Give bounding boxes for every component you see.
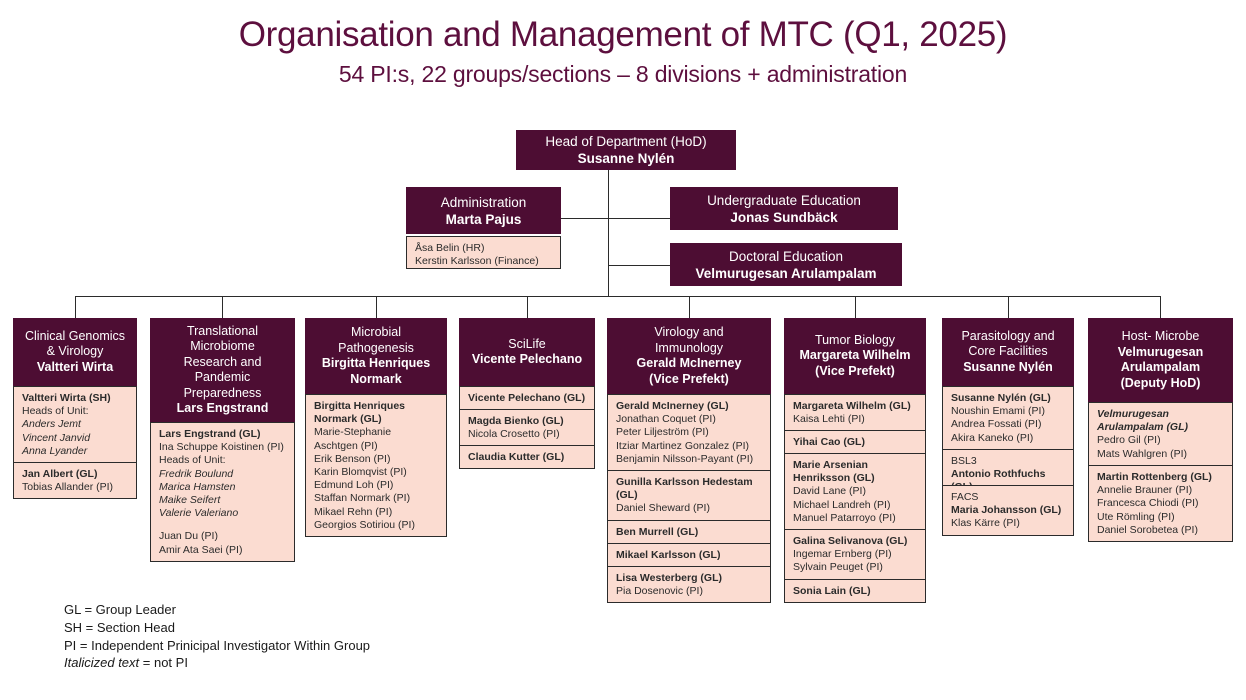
division-group-box[interactable]: Ben Murrell (GL) (607, 520, 771, 544)
box-doctoral-education[interactable]: Doctoral Education Velmurugesan Arulampa… (670, 243, 902, 286)
group-member-line: Ina Schuppe Koistinen (PI) (159, 441, 287, 454)
group-member-line: Peter Liljeström (PI) (616, 426, 763, 439)
group-member-line: Fredrik Boulund (159, 468, 287, 481)
group-member-line: Manuel Patarroyo (PI) (793, 512, 918, 525)
group-member-line: Martin Rottenberg (GL) (1097, 471, 1225, 484)
group-member-line: Ute Römling (PI) (1097, 511, 1225, 524)
group-member-line: Jan Albert (GL) (22, 468, 129, 481)
group-member-line: Daniel Sorobetea (PI) (1097, 524, 1225, 537)
group-member-line: Georgios Sotiriou (PI) (314, 519, 439, 532)
box-head-of-department[interactable]: Head of Department (HoD) Susanne Nylén (516, 130, 736, 170)
division-title-line: SciLife (508, 337, 546, 353)
division-header-microbial-pathogenesis[interactable]: MicrobialPathogenesisBirgitta Henriques … (305, 318, 447, 394)
division-group-box[interactable]: VelmurugesanArulampalam (GL)Pedro Gil (P… (1088, 402, 1233, 466)
group-member-line: Lisa Westerberg (GL) (616, 572, 763, 585)
group-member-line: Sylvain Peuget (PI) (793, 561, 918, 574)
drop-division-2 (222, 296, 223, 318)
division-group-box[interactable]: Mikael Karlsson (GL) (607, 543, 771, 567)
box-administration[interactable]: Administration Marta Pajus (406, 187, 561, 234)
group-line-spacer (159, 520, 287, 530)
division-title-line: Translational (187, 324, 258, 340)
drop-division-3 (376, 296, 377, 318)
group-member-line: Mikael Rehn (PI) (314, 506, 439, 519)
group-member-line: Benjamin Nilsson-Payant (PI) (616, 453, 763, 466)
group-member-line: Kaisa Lehti (PI) (793, 413, 918, 426)
group-member-line: Maike Seifert (159, 494, 287, 507)
group-member-line: Klas Kärre (PI) (951, 517, 1066, 530)
division-title-line: Preparedness (184, 386, 262, 402)
group-member-line: Susanne Nylén (GL) (951, 392, 1066, 405)
division-title-line: Clinical Genomics (25, 329, 125, 345)
legend-italic-rest: = not PI (139, 655, 188, 670)
division-leader-name: Gerald McInerney (637, 356, 742, 372)
connector-hod-trunk (608, 170, 609, 296)
group-member-line: Edmund Loh (PI) (314, 479, 439, 492)
group-member-line: Jonathan Coquet (PI) (616, 413, 763, 426)
administration-staff-0: Åsa Belin (HR) (415, 242, 553, 255)
group-member-line: Birgitta Henriques (314, 400, 439, 413)
group-member-line: Henriksson (GL) (793, 472, 918, 485)
division-leader-name: Lars Engstrand (177, 401, 269, 417)
group-member-line: Heads of Unit: (159, 454, 287, 467)
group-member-line: Marie-Stephanie (314, 426, 439, 439)
group-member-line: Galina Selivanova (GL) (793, 535, 918, 548)
division-leader-name: Susanne Nylén (963, 360, 1053, 376)
group-member-line: Erik Benson (PI) (314, 453, 439, 466)
group-member-line: Claudia Kutter (GL) (468, 451, 587, 464)
doctoral-role: Doctoral Education (729, 248, 843, 265)
division-group-box[interactable]: Vicente Pelechano (GL) (459, 386, 595, 410)
legend-italic-sample: Italicized text (64, 655, 139, 670)
division-group-box[interactable]: FACSMaria Johansson (GL)Klas Kärre (PI) (942, 485, 1074, 536)
group-member-line: Mikael Karlsson (GL) (616, 549, 763, 562)
division-title-line: Host- Microbe (1122, 329, 1200, 345)
division-leader-role: (Deputy HoD) (1121, 376, 1201, 392)
division-group-box[interactable]: Margareta Wilhelm (GL)Kaisa Lehti (PI) (784, 394, 926, 431)
group-member-line: Vincent Janvid (22, 432, 129, 445)
group-member-line: FACS (951, 491, 1066, 504)
group-member-line: Anna Lyander (22, 445, 129, 458)
division-title-line: Pathogenesis (338, 341, 414, 357)
division-leader-name: Vicente Pelechano (472, 352, 582, 368)
legend-line-0: GL = Group Leader (64, 601, 370, 619)
division-group-box[interactable]: Lars Engstrand (GL)Ina Schuppe Koistinen… (150, 422, 295, 562)
group-member-line: Yihai Cao (GL) (793, 436, 918, 449)
division-group-box[interactable]: Sonia Lain (GL) (784, 579, 926, 603)
group-member-line: Gerald McInerney (GL) (616, 400, 763, 413)
group-member-line: Tobias Allander (PI) (22, 481, 129, 494)
group-member-line: Ingemar Ernberg (PI) (793, 548, 918, 561)
division-header-virology-immunology[interactable]: Virology andImmunologyGerald McInerney(V… (607, 318, 771, 394)
division-header-tumor-biology[interactable]: Tumor BiologyMargareta Wilhelm(Vice Pref… (784, 318, 926, 394)
administration-name: Marta Pajus (446, 211, 522, 228)
group-member-line: Annelie Brauner (PI) (1097, 484, 1225, 497)
doctoral-name: Velmurugesan Arulampalam (695, 265, 876, 282)
group-member-line: Itziar Martinez Gonzalez (PI) (616, 440, 763, 453)
division-group-box[interactable]: Valtteri Wirta (SH)Heads of Unit:Anders … (13, 386, 137, 463)
group-member-line: Margareta Wilhelm (GL) (793, 400, 918, 413)
administration-role: Administration (441, 194, 527, 211)
division-title-line: Microbiome (190, 339, 255, 355)
division-group-box[interactable]: Birgitta HenriquesNormark (GL)Marie-Step… (305, 394, 447, 537)
group-member-line: Andrea Fossati (PI) (951, 418, 1066, 431)
legend-line-2: PI = Independent Prinicipal Investigator… (64, 637, 370, 655)
drop-division-7 (1008, 296, 1009, 318)
group-member-line: Heads of Unit: (22, 405, 129, 418)
group-member-line: Karin Blomqvist (PI) (314, 466, 439, 479)
group-member-line: Pia Dosenovic (PI) (616, 585, 763, 598)
group-member-line: David Lane (PI) (793, 485, 918, 498)
legend-line-1: SH = Section Head (64, 619, 370, 637)
division-group-box[interactable]: Lisa Westerberg (GL)Pia Dosenovic (PI) (607, 566, 771, 603)
division-bus (75, 296, 1161, 297)
group-member-line: Lars Engstrand (GL) (159, 428, 287, 441)
administration-staff-1: Kerstin Karlsson (Finance) (415, 255, 553, 268)
group-member-line: Francesca Chiodi (PI) (1097, 497, 1225, 510)
box-administration-staff[interactable]: Åsa Belin (HR) Kerstin Karlsson (Finance… (406, 236, 561, 269)
group-member-line: Juan Du (PI) (159, 530, 287, 543)
group-member-line: Marie Arsenian (793, 459, 918, 472)
division-leader-name: Valtteri Wirta (37, 360, 113, 376)
division-title-line: Tumor Biology (815, 333, 895, 349)
division-title-line: & Virology (47, 344, 104, 360)
division-title-line: Microbial (351, 325, 401, 341)
drop-division-6 (855, 296, 856, 318)
group-member-line: BSL3 (951, 455, 1066, 468)
page-title: Organisation and Management of MTC (Q1, … (0, 14, 1246, 55)
legend-line-3: Italicized text = not PI (64, 654, 370, 672)
group-member-line: Marica Hamsten (159, 481, 287, 494)
division-group-box[interactable]: Jan Albert (GL)Tobias Allander (PI) (13, 462, 137, 499)
division-header-translational-microbiome[interactable]: TranslationalMicrobiomeResearch andPande… (150, 318, 295, 422)
group-member-line: Pedro Gil (PI) (1097, 434, 1225, 447)
division-group-box[interactable]: Galina Selivanova (GL)Ingemar Ernberg (P… (784, 529, 926, 580)
group-member-line: (GL) (616, 489, 763, 502)
division-leader-role: (Vice Prefekt) (649, 372, 729, 388)
division-header-parasitology-core-facilities[interactable]: Parasitology andCore FacilitiesSusanne N… (942, 318, 1074, 386)
group-member-line: Noushin Emami (PI) (951, 405, 1066, 418)
page-subtitle: 54 PI:s, 22 groups/sections – 8 division… (0, 60, 1246, 88)
group-member-line: Velmurugesan (1097, 408, 1225, 421)
division-group-box[interactable]: Yihai Cao (GL) (784, 430, 926, 454)
group-member-line: Sonia Lain (GL) (793, 585, 918, 598)
group-member-line: Magda Bienko (GL) (468, 415, 587, 428)
undergraduate-role: Undergraduate Education (707, 192, 861, 209)
connector-admin-undergrad-bus (561, 218, 671, 219)
division-group-box[interactable]: Magda Bienko (GL)Nicola Crosetto (PI) (459, 409, 595, 446)
org-chart-canvas: Organisation and Management of MTC (Q1, … (0, 0, 1246, 700)
connector-doctoral-bus (608, 265, 671, 266)
group-member-line: Normark (GL) (314, 413, 439, 426)
division-leader-role: (Vice Prefekt) (815, 364, 895, 380)
division-group-box[interactable]: Gunilla Karlsson Hedestam(GL)Daniel Shew… (607, 470, 771, 521)
group-member-line: Michael Landreh (PI) (793, 499, 918, 512)
group-member-line: Valerie Valeriano (159, 507, 287, 520)
division-header-scilife[interactable]: SciLifeVicente Pelechano (459, 318, 595, 386)
undergraduate-name: Jonas Sundbäck (730, 209, 837, 226)
title-block: Organisation and Management of MTC (Q1, … (0, 14, 1246, 88)
group-member-line: Valtteri Wirta (SH) (22, 392, 129, 405)
division-title-line: Immunology (655, 341, 723, 357)
group-member-line: Gunilla Karlsson Hedestam (616, 476, 763, 489)
group-member-line: Staffan Normark (PI) (314, 492, 439, 505)
division-group-box[interactable]: Martin Rottenberg (GL)Annelie Brauner (P… (1088, 465, 1233, 542)
group-member-line: Nicola Crosetto (PI) (468, 428, 587, 441)
division-group-box[interactable]: Gerald McInerney (GL)Jonathan Coquet (PI… (607, 394, 771, 471)
division-title-line: Virology and (654, 325, 723, 341)
hod-role: Head of Department (HoD) (545, 133, 706, 150)
group-member-line: Anders Jemt (22, 418, 129, 431)
legend: GL = Group Leader SH = Section Head PI =… (64, 601, 370, 672)
group-member-line: Amir Ata Saei (PI) (159, 544, 287, 557)
division-title-line: Pandemic (195, 370, 251, 386)
group-member-line: Aschtgen (PI) (314, 440, 439, 453)
division-header-clinical-genomics-virology[interactable]: Clinical Genomics& VirologyValtteri Wirt… (13, 318, 137, 386)
group-member-line: Arulampalam (GL) (1097, 421, 1225, 434)
group-member-line: Ben Murrell (GL) (616, 526, 763, 539)
division-leader-name: Birgitta Henriques Normark (310, 356, 442, 387)
drop-division-5 (689, 296, 690, 318)
division-group-box[interactable]: Susanne Nylén (GL)Noushin Emami (PI)Andr… (942, 386, 1074, 450)
division-group-box[interactable]: BSL3Antonio Rothfuchs (GL) (942, 449, 1074, 486)
hod-name: Susanne Nylén (578, 150, 675, 167)
division-leader-name: Velmurugesan Arulampalam (1093, 345, 1228, 376)
drop-division-8 (1160, 296, 1161, 318)
group-member-line: Maria Johansson (GL) (951, 504, 1066, 517)
group-member-line: Daniel Sheward (PI) (616, 502, 763, 515)
box-undergraduate-education[interactable]: Undergraduate Education Jonas Sundbäck (670, 187, 898, 230)
division-title-line: Parasitology and (961, 329, 1054, 345)
drop-division-1 (75, 296, 76, 318)
division-header-host-microbe[interactable]: Host- MicrobeVelmurugesan Arulampalam(De… (1088, 318, 1233, 402)
division-title-line: Core Facilities (968, 344, 1047, 360)
group-member-line: Vicente Pelechano (GL) (468, 392, 587, 405)
division-title-line: Research and (184, 355, 262, 371)
division-leader-name: Margareta Wilhelm (799, 348, 910, 364)
division-group-box[interactable]: Marie ArsenianHenriksson (GL)David Lane … (784, 453, 926, 530)
group-member-line: Mats Wahlgren (PI) (1097, 448, 1225, 461)
division-group-box[interactable]: Claudia Kutter (GL) (459, 445, 595, 469)
drop-division-4 (527, 296, 528, 318)
group-member-line: Akira Kaneko (PI) (951, 432, 1066, 445)
